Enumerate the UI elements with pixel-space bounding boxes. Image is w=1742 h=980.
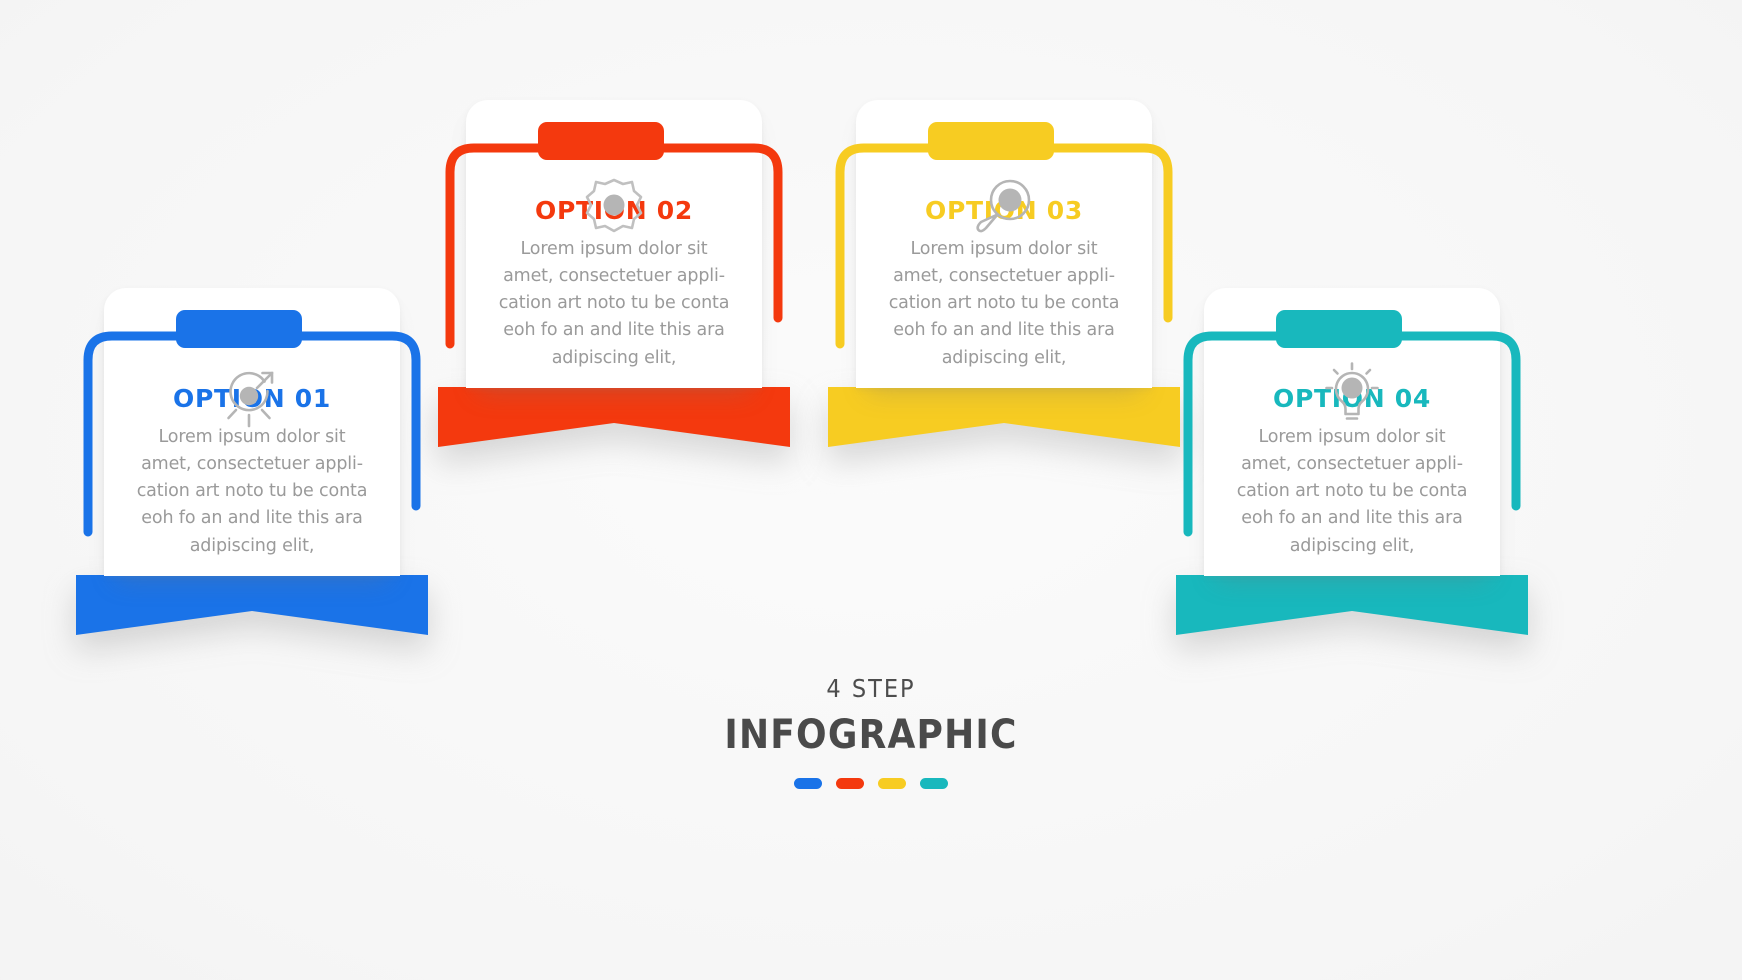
step-description-3: Lorem ipsum dolor sit amet, consectetuer… (878, 236, 1130, 372)
desc-line: cation art noto tu be conta (878, 290, 1130, 317)
banner-shape-1 (76, 575, 428, 635)
step-tab-2[interactable] (538, 122, 664, 160)
banner-shape-2 (438, 387, 790, 447)
step-banner-4 (1176, 575, 1528, 643)
step-tab-4[interactable] (1276, 310, 1402, 348)
step-description-4: Lorem ipsum dolor sit amet, consectetuer… (1226, 424, 1478, 560)
banner-shape-4 (1176, 575, 1528, 635)
gear-badge-icon (577, 172, 651, 246)
step-card-4[interactable]: OPTION 04 Lorem ipsum dolor sit amet, co… (1204, 288, 1500, 647)
desc-line: amet, consectetuer appli- (126, 451, 378, 478)
banner-shape-3 (828, 387, 1180, 447)
desc-line: cation art noto tu be conta (126, 478, 378, 505)
desc-line: amet, consectetuer appli- (1226, 451, 1478, 478)
legend-dot-2[interactable] (836, 778, 864, 789)
step-tab-3[interactable] (928, 122, 1054, 160)
color-legend-dots (0, 778, 1742, 789)
desc-line: cation art noto tu be conta (1226, 478, 1478, 505)
step-description-2: Lorem ipsum dolor sit amet, consectetuer… (488, 236, 740, 372)
step-card-2[interactable]: OPTION 02 Lorem ipsum dolor sit amet, co… (466, 100, 762, 459)
center-title: INFOGRAPHIC (0, 712, 1742, 758)
step-icon-wrap-4 (1204, 360, 1500, 434)
legend-dot-1[interactable] (794, 778, 822, 789)
step-banner-3 (828, 387, 1180, 455)
infographic-stage: OPTION 01 Lorem ipsum dolor sit amet, co… (0, 0, 1742, 980)
desc-line: adipiscing elit, (488, 345, 740, 372)
legend-dot-3[interactable] (878, 778, 906, 789)
desc-line: eoh fo an and lite this ara (126, 505, 378, 532)
desc-line: cation art noto tu be conta (488, 290, 740, 317)
step-description-1: Lorem ipsum dolor sit amet, consectetuer… (126, 424, 378, 560)
target-arrow-icon (215, 360, 289, 434)
desc-line: amet, consectetuer appli- (488, 263, 740, 290)
magnifier-icon (967, 172, 1041, 246)
step-card-1[interactable]: OPTION 01 Lorem ipsum dolor sit amet, co… (104, 288, 400, 647)
desc-line: adipiscing elit, (126, 533, 378, 560)
step-tab-1[interactable] (176, 310, 302, 348)
desc-line: adipiscing elit, (1226, 533, 1478, 560)
desc-line: adipiscing elit, (878, 345, 1130, 372)
step-icon-wrap-1 (104, 360, 400, 434)
step-card-body-3: OPTION 03 Lorem ipsum dolor sit amet, co… (856, 100, 1152, 388)
lightbulb-icon (1315, 360, 1389, 434)
step-icon-wrap-3 (856, 172, 1152, 246)
legend-dot-4[interactable] (920, 778, 948, 789)
step-icon-wrap-2 (466, 172, 762, 246)
desc-line: eoh fo an and lite this ara (878, 317, 1130, 344)
center-subtitle: 4 STEP (0, 674, 1742, 703)
desc-line: amet, consectetuer appli- (878, 263, 1130, 290)
center-title-block: 4 STEP INFOGRAPHIC (0, 674, 1742, 789)
desc-line: eoh fo an and lite this ara (488, 317, 740, 344)
desc-line: eoh fo an and lite this ara (1226, 505, 1478, 532)
step-card-3[interactable]: OPTION 03 Lorem ipsum dolor sit amet, co… (856, 100, 1152, 459)
step-banner-1 (76, 575, 428, 643)
step-banner-2 (438, 387, 790, 455)
step-card-body-1: OPTION 01 Lorem ipsum dolor sit amet, co… (104, 288, 400, 576)
step-card-body-4: OPTION 04 Lorem ipsum dolor sit amet, co… (1204, 288, 1500, 576)
step-card-body-2: OPTION 02 Lorem ipsum dolor sit amet, co… (466, 100, 762, 388)
